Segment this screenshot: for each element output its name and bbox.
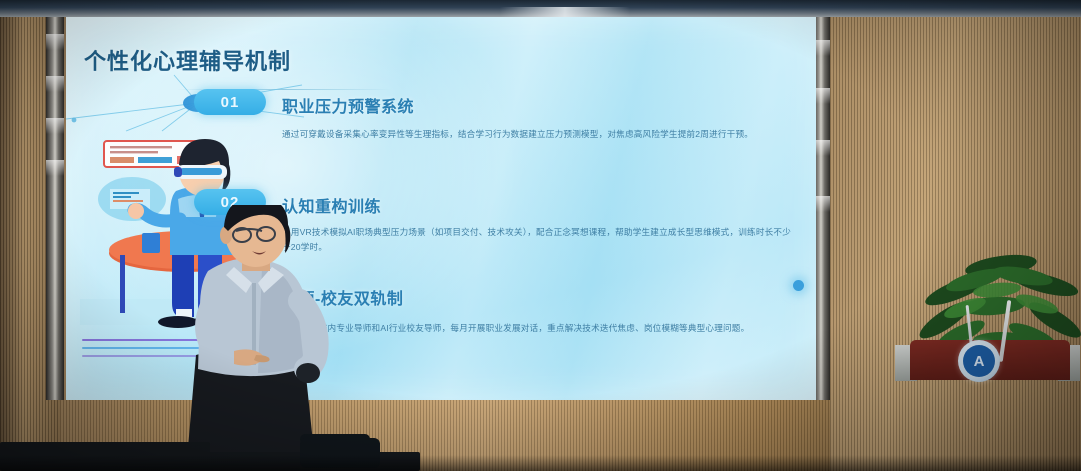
presenter xyxy=(160,205,390,471)
institution-logo: A xyxy=(958,340,1000,382)
slide-title: 个性化心理辅导机制 xyxy=(84,44,291,76)
chair-back-mid xyxy=(300,438,380,468)
section-heading-01: 职业压力预警系统 xyxy=(282,93,414,117)
institution-logo-letter: A xyxy=(963,345,995,377)
blue-dot-decoration xyxy=(793,280,804,291)
section-badge-01: 01 xyxy=(194,89,266,115)
bezel-highlight xyxy=(500,7,630,17)
screenshot-root: 个性化心理辅导机制 xyxy=(0,0,1081,471)
screen-trim-left xyxy=(46,0,64,400)
section-body-01: 通过可穿戴设备采集心率变异性等生理指标，结合学习行为数据建立压力预测模型，对焦虑… xyxy=(282,127,798,142)
